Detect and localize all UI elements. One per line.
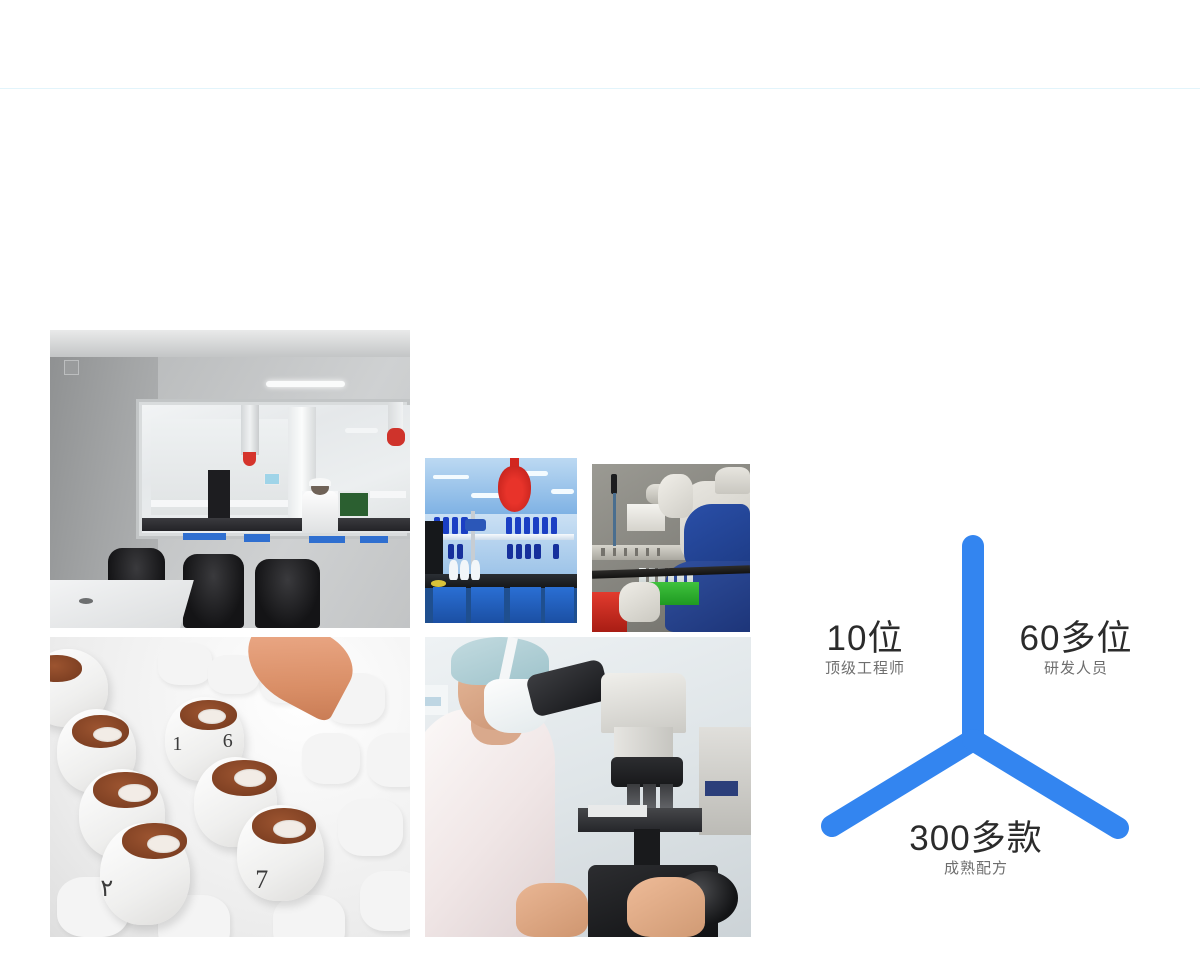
- photo-region-dark-cabinet: [208, 470, 230, 518]
- photo-region-ceiling-lamp: [433, 475, 469, 480]
- photo-region-tube-light-2: [345, 428, 377, 433]
- photo-region-glove: [619, 582, 660, 622]
- photo-region-bottle: [515, 517, 521, 534]
- photo-region-ceiling: [50, 330, 410, 357]
- photo-region-glove: [658, 474, 693, 518]
- photo-region-bottle: [452, 517, 458, 534]
- stat-label: 研发人员: [986, 658, 1166, 681]
- photo-region-foam-bump: [360, 871, 410, 931]
- photo-region-yolk-ring: [93, 727, 122, 742]
- photo-region-bench-drawer: [244, 534, 269, 542]
- photo-region-bench-drawer: [183, 533, 226, 541]
- stat-label: 顶级工程师: [790, 658, 940, 681]
- photo-region-bottle: [533, 517, 539, 534]
- photo-region-egg-number: ٢: [100, 874, 113, 903]
- photo-region-bottle: [443, 517, 449, 534]
- photo-region-dark-panel: [425, 521, 443, 577]
- photo-region-egg-number: 7: [255, 865, 268, 895]
- photo-lab-observation-window: [50, 330, 410, 628]
- photo-region-cabinet: [433, 587, 466, 623]
- photo-region-yellow-dish: [431, 580, 446, 587]
- photo-region-hand: [516, 883, 588, 937]
- photo-region-bottle: [516, 544, 522, 559]
- photo-region-rail-slot: [624, 548, 627, 556]
- photo-region-chair: [183, 554, 244, 629]
- photo-region-duct: [241, 405, 259, 456]
- stat-rnd-staff: 60多位 研发人员: [986, 620, 1166, 680]
- photo-region-bench-drawer: [360, 536, 389, 544]
- stat-value: 300多款: [876, 820, 1076, 858]
- photo-region-table: [50, 580, 194, 628]
- photo-region-wall-panel: [264, 473, 280, 485]
- photo-region-apparatus: [465, 519, 486, 531]
- photo-region-foam-bump: [338, 799, 403, 856]
- y-right-arm: [973, 740, 1118, 828]
- photo-region-duct-nozzle: [243, 452, 256, 465]
- photo-region-foam-bump: [158, 643, 212, 685]
- photo-region-yolk-ring: [147, 835, 179, 853]
- photo-region-ceiling-lamp: [551, 489, 574, 494]
- photo-region-hood: [715, 467, 750, 494]
- photo-region-bottle: [551, 517, 557, 534]
- photo-region-flask: [449, 560, 458, 580]
- photo-region-probe: [611, 474, 617, 494]
- photo-region-flask: [471, 560, 480, 580]
- photo-region-egg-number: 6: [223, 730, 233, 753]
- top-divider: [0, 88, 1200, 89]
- stat-label: 成熟配方: [876, 858, 1076, 881]
- photo-region-bottle: [525, 544, 531, 559]
- photo-region-hand: [627, 877, 705, 937]
- photo-region-rail-slot: [613, 548, 616, 556]
- photo-region-bottle: [542, 517, 548, 534]
- photo-region-foam-bump: [273, 895, 345, 937]
- photo-region-bottle: [507, 544, 513, 559]
- photo-biosafety-cabinet-tubes: [592, 464, 750, 632]
- photo-region-rail-slot: [635, 548, 638, 556]
- photo-region-bottle: [534, 544, 540, 559]
- photo-region-instrument-label: [705, 781, 738, 796]
- photo-region-nosepiece: [611, 757, 683, 787]
- photo-region-duct-right-nozzle: [387, 428, 405, 446]
- stat-value: 60多位: [986, 620, 1166, 658]
- photo-region-bottle: [506, 517, 512, 534]
- photo-region-shelf: [428, 534, 574, 541]
- photo-region-rail-slot: [601, 548, 604, 556]
- photo-region-rail-slot: [657, 548, 660, 556]
- photo-region-cabinet: [545, 587, 574, 623]
- photo-region-tube-light: [266, 381, 345, 388]
- photo-region-flask: [460, 560, 469, 580]
- photo-region-wall-label: [425, 697, 441, 706]
- photo-eggs-in-foam-tray: 1 6 7 ٢: [50, 637, 410, 937]
- photo-region-wall-sign: [64, 360, 78, 375]
- stat-formulas: 300多款 成熟配方: [876, 820, 1076, 880]
- photo-region-bottle: [553, 544, 559, 559]
- y-left-arm: [832, 740, 973, 826]
- photo-region-bench: [142, 518, 410, 531]
- photo-region-bench-drawer: [309, 536, 345, 544]
- photo-region-chair: [255, 559, 320, 628]
- capability-y-diagram: 10位 顶级工程师 60多位 研发人员 300多款 成熟配方: [790, 520, 1190, 920]
- photo-region-bottle: [448, 544, 454, 559]
- photo-region-foam-bump: [302, 733, 360, 784]
- photo-blue-lab-bench: [425, 458, 577, 623]
- photo-region-egg-number: 1: [172, 733, 182, 756]
- photo-region-slide: [588, 805, 647, 817]
- photo-region-probe-line: [613, 493, 615, 547]
- photo-region-foam-bump: [367, 733, 410, 787]
- photo-region-cabinet: [510, 587, 540, 623]
- photo-region-monitor: [338, 491, 370, 518]
- photo-region-rail-slot: [646, 548, 649, 556]
- photo-region-worker-cap: [309, 478, 331, 487]
- photo-region-cabinet: [471, 587, 504, 623]
- photo-region-yolk-ring: [273, 820, 305, 838]
- photo-region-bottle: [457, 544, 463, 559]
- photo-region-yolk-ring: [118, 784, 150, 802]
- photo-region-yolk-ring: [234, 769, 266, 787]
- photo-region-rail: [592, 545, 690, 560]
- stat-value: 10位: [790, 620, 940, 658]
- stat-top-engineers: 10位 顶级工程师: [790, 620, 940, 680]
- photo-region-microscope-head: [601, 673, 686, 733]
- photo-region-worker: [302, 491, 338, 533]
- photo-region-bottle: [524, 517, 530, 534]
- photo-region-yolk-ring: [198, 709, 227, 724]
- photo-researcher-at-microscope: [425, 637, 751, 937]
